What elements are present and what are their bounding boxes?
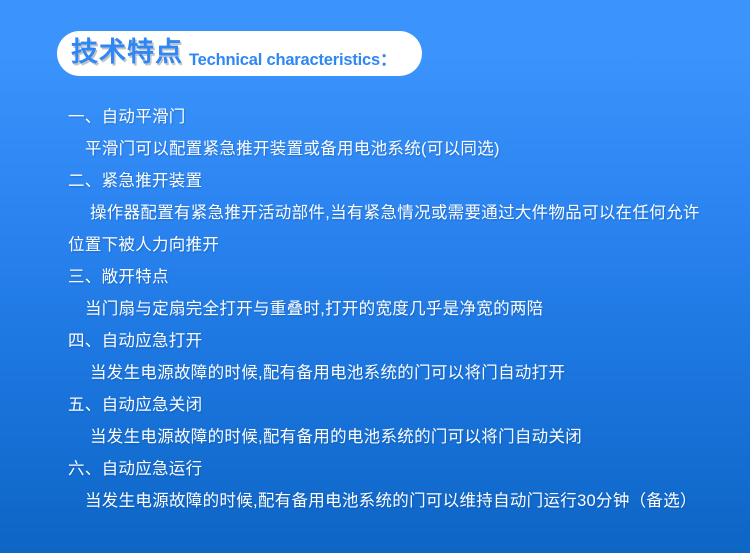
page-title-chinese: 技术特点 — [71, 39, 183, 66]
feature-section-3: 三、敞开特点 当门扇与定扇完全打开与重叠时,打开的宽度几乎是净宽的两陪 — [0, 261, 750, 325]
feature-list: 一、自动平滑门 平滑门可以配置紧急推开装置或备用电池系统(可以同选) 二、紧急推… — [0, 101, 750, 517]
feature-heading-3: 三、敞开特点 — [0, 261, 750, 293]
feature-heading-5: 五、自动应急关闭 — [0, 389, 750, 421]
feature-body-4-line-1: 当发生电源故障的时候,配有备用电池系统的门可以将门自动打开 — [0, 357, 750, 389]
feature-heading-1: 一、自动平滑门 — [0, 101, 750, 133]
feature-body-3-line-1: 当门扇与定扇完全打开与重叠时,打开的宽度几乎是净宽的两陪 — [0, 293, 750, 325]
feature-section-2: 二、紧急推开装置 操作器配置有紧急推开活动部件,当有紧急情况或需要通过大件物品可… — [0, 165, 750, 261]
feature-section-4: 四、自动应急打开 当发生电源故障的时候,配有备用电池系统的门可以将门自动打开 — [0, 325, 750, 389]
feature-section-5: 五、自动应急关闭 当发生电源故障的时候,配有备用的电池系统的门可以将门自动关闭 — [0, 389, 750, 453]
feature-section-6: 六、自动应急运行 当发生电源故障的时候,配有备用电池系统的门可以维持自动门运行3… — [0, 453, 750, 517]
feature-body-1-line-1: 平滑门可以配置紧急推开装置或备用电池系统(可以同选) — [0, 133, 750, 165]
feature-heading-2: 二、紧急推开装置 — [0, 165, 750, 197]
header-badge: 技术特点 Technical characteristics： — [57, 31, 422, 76]
feature-heading-4: 四、自动应急打开 — [0, 325, 750, 357]
feature-heading-6: 六、自动应急运行 — [0, 453, 750, 485]
slide-background: 技术特点 Technical characteristics： 一、自动平滑门 … — [0, 0, 750, 553]
feature-body-2-line-1: 操作器配置有紧急推开活动部件,当有紧急情况或需要通过大件物品可以在任何允许 — [0, 197, 750, 229]
page-title-english: Technical characteristics： — [189, 46, 396, 70]
feature-body-6-line-1: 当发生电源故障的时候,配有备用电池系统的门可以维持自动门运行30分钟（备选） — [0, 485, 750, 517]
feature-body-5-line-1: 当发生电源故障的时候,配有备用的电池系统的门可以将门自动关闭 — [0, 421, 750, 453]
feature-section-1: 一、自动平滑门 平滑门可以配置紧急推开装置或备用电池系统(可以同选) — [0, 101, 750, 165]
feature-body-2-line-2: 位置下被人力向推开 — [0, 229, 750, 261]
